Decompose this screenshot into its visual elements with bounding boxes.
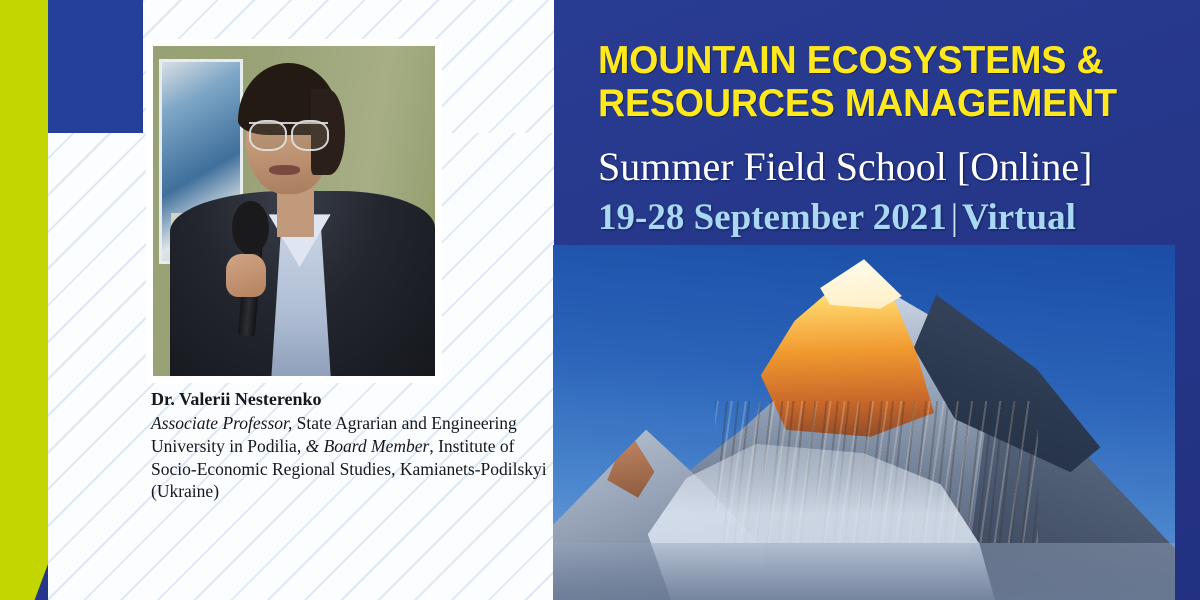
dateline-separator: |: [947, 197, 962, 238]
speaker-photo-frame: [146, 39, 442, 383]
headline-line-2: RESOURCES MANAGEMENT: [598, 83, 1167, 126]
event-subtitle: Summer Field School [Online]: [598, 145, 1092, 189]
speaker-role-secondary: & Board Member: [306, 436, 430, 456]
speaker-role-primary: Associate Professor,: [151, 413, 292, 433]
mountain-base-haze: [553, 543, 1175, 600]
lime-accent-bar: [0, 0, 48, 600]
microphone-icon: [232, 201, 269, 254]
speaker-affiliation: Associate Professor, State Agrarian and …: [151, 412, 551, 503]
event-venue: Virtual: [962, 197, 1076, 238]
photo-mouth: [269, 165, 300, 176]
mountain-photo: [553, 245, 1175, 600]
glasses-left-lens-icon: [249, 120, 287, 150]
event-dates: 19-28 September 2021: [598, 197, 947, 238]
glasses-right-lens-icon: [291, 120, 329, 150]
speaker-name: Dr. Valerii Nesterenko: [151, 388, 551, 411]
photo-hand: [226, 254, 265, 297]
page-title: MOUNTAIN ECOSYSTEMS & RESOURCES MANAGEME…: [598, 40, 1167, 125]
event-dateline: 19-28 September 2021|Virtual: [598, 198, 1076, 239]
headline-line-1: MOUNTAIN ECOSYSTEMS &: [598, 40, 1167, 83]
event-poster: Dr. Valerii Nesterenko Associate Profess…: [0, 0, 1200, 600]
speaker-photo: [153, 46, 435, 376]
speaker-caption: Dr. Valerii Nesterenko Associate Profess…: [151, 388, 551, 503]
blue-corner-block: [48, 0, 143, 133]
